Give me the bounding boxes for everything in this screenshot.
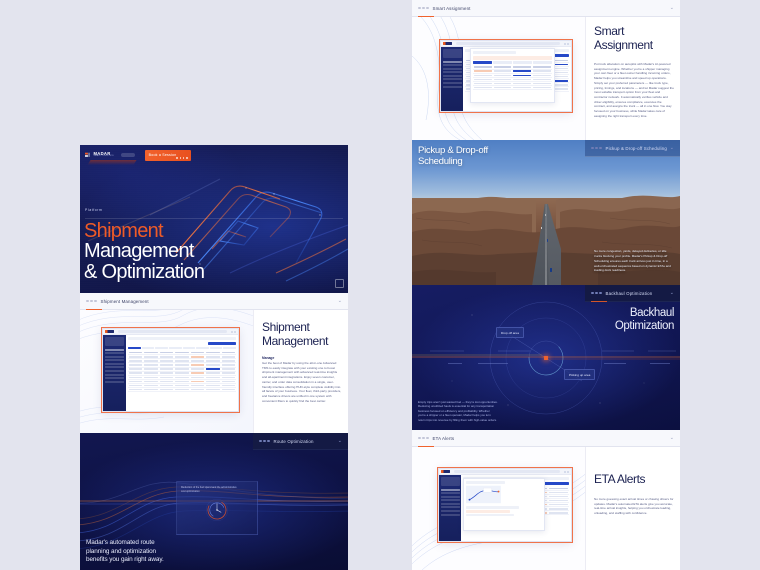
route-optimization-section: Reduction of the fuel spend and the admi…: [80, 433, 348, 570]
footer-line1: Madar's automated route: [86, 539, 164, 547]
smart-assignment-visual: [412, 0, 585, 140]
backhaul-title: Backhaul Optimization: [615, 307, 674, 334]
mock-highlight-frame: [437, 467, 573, 543]
mock-highlight-frame: [101, 327, 240, 413]
chevron-down-icon[interactable]: ⌄: [338, 439, 342, 444]
book-session-label: Book a Session: [149, 153, 177, 157]
tab-active-underline: [418, 16, 434, 17]
heading-line2: Assignment: [594, 39, 653, 53]
tabbar-shipment-management[interactable]: Shipment Management ⌄: [80, 293, 348, 310]
eta-alerts-copy: ETA Alerts No more guessing exact arriva…: [585, 430, 680, 570]
heading-line1: Shipment: [262, 321, 328, 335]
shipment-management-section: Shipment Management Manage Get the best …: [80, 293, 348, 433]
backhaul-optimization-section: Drop off area Picking up area Backhaul O…: [412, 285, 680, 430]
shipment-management-kicker: Manage: [262, 356, 274, 360]
smart-assignment-body: Put truck allocation on autopilot with M…: [594, 62, 674, 119]
smart-assignment-heading: Smart Assignment: [594, 25, 653, 53]
footer-line3: benefits you gain right away.: [86, 556, 164, 564]
title-line1: Pickup & Drop-off: [418, 145, 488, 156]
tab-active-underline: [418, 446, 434, 447]
vehicle-truck-icon: [547, 239, 549, 242]
window-dots-icon: [259, 440, 270, 443]
title-line2: Optimization: [615, 320, 674, 333]
backhaul-body: Empty trips aren't just wasted fuel — th…: [418, 400, 498, 423]
hub-marker-icon: [544, 356, 548, 360]
route-optimization-card-text: Reduction of the fuel spend and the admi…: [181, 486, 237, 494]
logo[interactable]: MADAR SMART LOGISTICS: [85, 152, 114, 159]
dropoff-area-pill[interactable]: Drop off area: [496, 327, 524, 338]
smart-assignment-section: Smart Assignment Put truck allocation on…: [412, 0, 680, 140]
pickup-dropoff-section: Pickup & Drop-off Scheduling No more con…: [412, 140, 680, 285]
nav-menu-button[interactable]: [121, 153, 135, 158]
pickup-area-pill[interactable]: Picking up area: [564, 369, 595, 380]
hero-title-line1: Shipment: [84, 221, 204, 241]
logo-text-group: MADAR SMART LOGISTICS: [94, 152, 114, 159]
pickup-dropoff-title: Pickup & Drop-off Scheduling: [418, 145, 488, 167]
eta-alerts-visual: [412, 430, 585, 570]
smart-assignment-copy: Smart Assignment Put truck allocation on…: [585, 0, 680, 140]
chevron-down-icon[interactable]: ⌄: [338, 299, 342, 304]
mock-highlight-frame: [439, 39, 573, 113]
hero-title-line2: Management: [84, 241, 204, 261]
pickup-dropoff-body: No more congestion, yards, delayed deliv…: [594, 249, 672, 273]
hero-navbar: MADAR SMART LOGISTICS Book a Session: [85, 149, 343, 161]
madar-logo-icon: [85, 152, 92, 159]
tabbar-eta-alerts[interactable]: ETA Alerts ⌄: [412, 430, 680, 447]
footer-line2: planning and optimization: [86, 548, 164, 556]
heading-line2: Management: [262, 335, 328, 349]
hero-divider: [85, 218, 343, 219]
hero-section: MADAR SMART LOGISTICS Book a Session Pla…: [80, 145, 348, 293]
chevron-down-icon[interactable]: ⌄: [670, 291, 674, 296]
chevron-down-icon[interactable]: ⌄: [670, 146, 674, 151]
cta-dots-icon: [176, 157, 188, 158]
tab-label: Route Optimization: [274, 439, 314, 444]
screenshot-canvas: MADAR SMART LOGISTICS Book a Session Pla…: [0, 0, 760, 570]
tab-label: Backhaul Optimization: [606, 291, 653, 296]
cta-shadow: [87, 160, 136, 165]
tab-label: Pickup & Drop-off Scheduling: [606, 146, 667, 151]
heading-line1: Smart: [594, 25, 653, 39]
tabbar-smart-assignment[interactable]: Smart Assignment ⌄: [412, 0, 680, 17]
chevron-down-icon[interactable]: ⌄: [670, 436, 674, 441]
hero-eyebrow: Platform: [85, 208, 102, 212]
title-line2: Scheduling: [418, 156, 488, 167]
shipment-management-visual: [80, 293, 253, 433]
vehicle-truck-icon: [550, 268, 552, 272]
window-dots-icon: [591, 292, 602, 295]
window-dots-icon: [418, 7, 429, 10]
expand-icon[interactable]: [335, 279, 344, 288]
shipment-management-heading: Shipment Management: [262, 321, 328, 349]
tabbar-pickup-dropoff[interactable]: Pickup & Drop-off Scheduling ⌄: [585, 140, 680, 157]
tab-active-underline: [591, 301, 607, 302]
route-dial-icon: [205, 498, 229, 522]
logo-tagline: SMART LOGISTICS: [94, 156, 114, 158]
tab-label: Shipment Management: [101, 299, 149, 304]
chevron-down-icon[interactable]: ⌄: [670, 6, 674, 11]
hero-title-line3: & Optimization: [84, 262, 204, 282]
route-optimization-footer: Madar's automated route planning and opt…: [86, 539, 164, 564]
title-line1: Backhaul: [615, 307, 674, 320]
hero-title: Shipment Management & Optimization: [84, 221, 204, 282]
book-session-button[interactable]: Book a Session: [145, 150, 191, 161]
shipment-management-body: Get the best of Madar by using the all-i…: [262, 361, 342, 403]
window-dots-icon: [418, 437, 429, 440]
route-optimization-card: Reduction of the fuel spend and the admi…: [176, 481, 258, 535]
eta-alerts-heading: ETA Alerts: [594, 472, 645, 486]
eta-alerts-body: No more guessing exact arrival times or …: [594, 497, 674, 516]
window-dots-icon: [86, 300, 97, 303]
window-dots-icon: [591, 147, 602, 150]
shipment-management-copy: Shipment Management Manage Get the best …: [253, 293, 348, 433]
tab-label: ETA Alerts: [433, 436, 455, 441]
tab-label: Smart Assignment: [433, 6, 471, 11]
tabbar-backhaul[interactable]: Backhaul Optimization ⌄: [585, 285, 680, 302]
vehicle-car-icon: [545, 214, 546, 216]
tabbar-route-optimization[interactable]: Route Optimization ⌄: [253, 433, 348, 450]
eta-alerts-section: ETA Alerts No more guessing exact arriva…: [412, 430, 680, 570]
tab-active-underline: [86, 309, 102, 310]
